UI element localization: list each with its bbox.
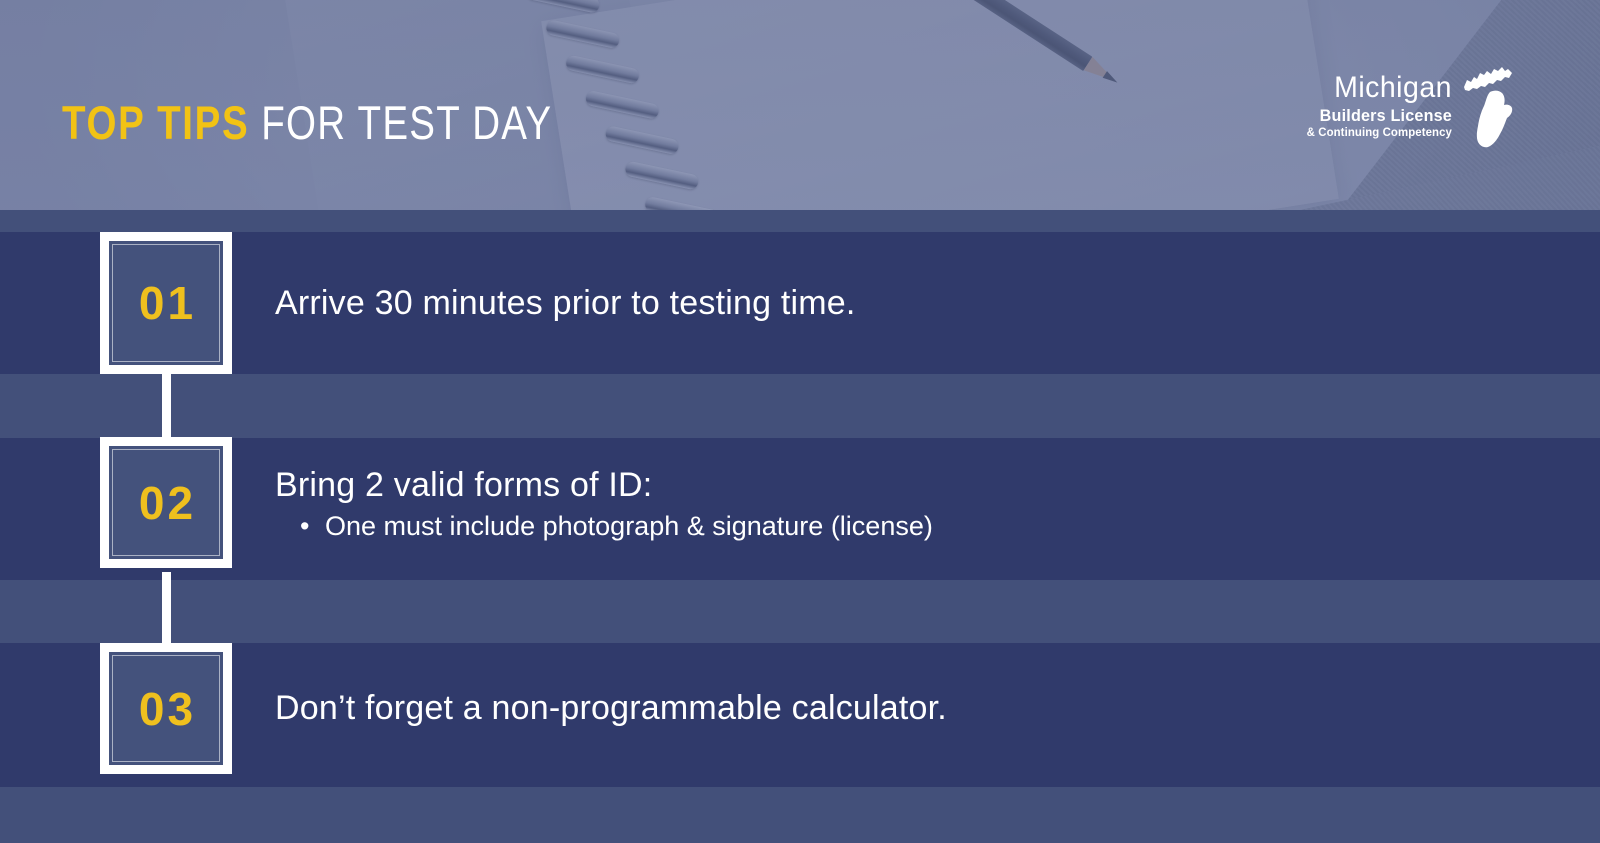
connector-line-1-2 <box>162 366 171 446</box>
band-tip-2 <box>0 438 1600 580</box>
band-gap-2 <box>0 580 1600 643</box>
page-title-rest: FOR TEST DAY <box>249 96 552 149</box>
brand-logo: Michigan Builders License & Continuing C… <box>1299 70 1522 150</box>
header-banner: TOP TIPS FOR TEST DAY Michigan Builders … <box>0 0 1600 210</box>
connector-line-2-3 <box>162 572 171 652</box>
brand-name-tertiary: & Continuing Competency <box>1307 126 1452 140</box>
page-title-highlight: TOP TIPS <box>62 96 249 149</box>
brand-name-secondary: Builders License <box>1307 106 1452 126</box>
brand-name-primary: Michigan <box>1307 72 1452 104</box>
tip-number-2: 02 <box>136 480 196 526</box>
tip-number-box-3: 03 <box>100 643 232 774</box>
tip-text-2: Bring 2 valid forms of ID: <box>275 465 652 505</box>
tip-number-3: 03 <box>136 686 196 732</box>
tip-bullet-2-1: •One must include photograph & signature… <box>300 510 933 542</box>
bullet-dot-icon: • <box>300 510 325 542</box>
tip-number-box-1: 01 <box>100 232 232 374</box>
michigan-state-outline-icon <box>1460 62 1522 150</box>
brand-logo-text: Michigan Builders License & Continuing C… <box>1299 70 1452 140</box>
tip-text-3: Don’t forget a non-programmable calculat… <box>275 688 947 728</box>
slide-root: TOP TIPS FOR TEST DAY Michigan Builders … <box>0 0 1600 843</box>
page-title: TOP TIPS FOR TEST DAY <box>62 99 552 146</box>
tip-text-1: Arrive 30 minutes prior to testing time. <box>275 283 856 323</box>
band-gap-bottom <box>0 787 1600 843</box>
tip-bullet-text-2-1: One must include photograph & signature … <box>325 511 933 541</box>
tip-number-box-2: 02 <box>100 437 232 568</box>
tip-number-1: 01 <box>136 280 196 326</box>
band-gap-top <box>0 210 1600 232</box>
band-gap-1 <box>0 374 1600 438</box>
